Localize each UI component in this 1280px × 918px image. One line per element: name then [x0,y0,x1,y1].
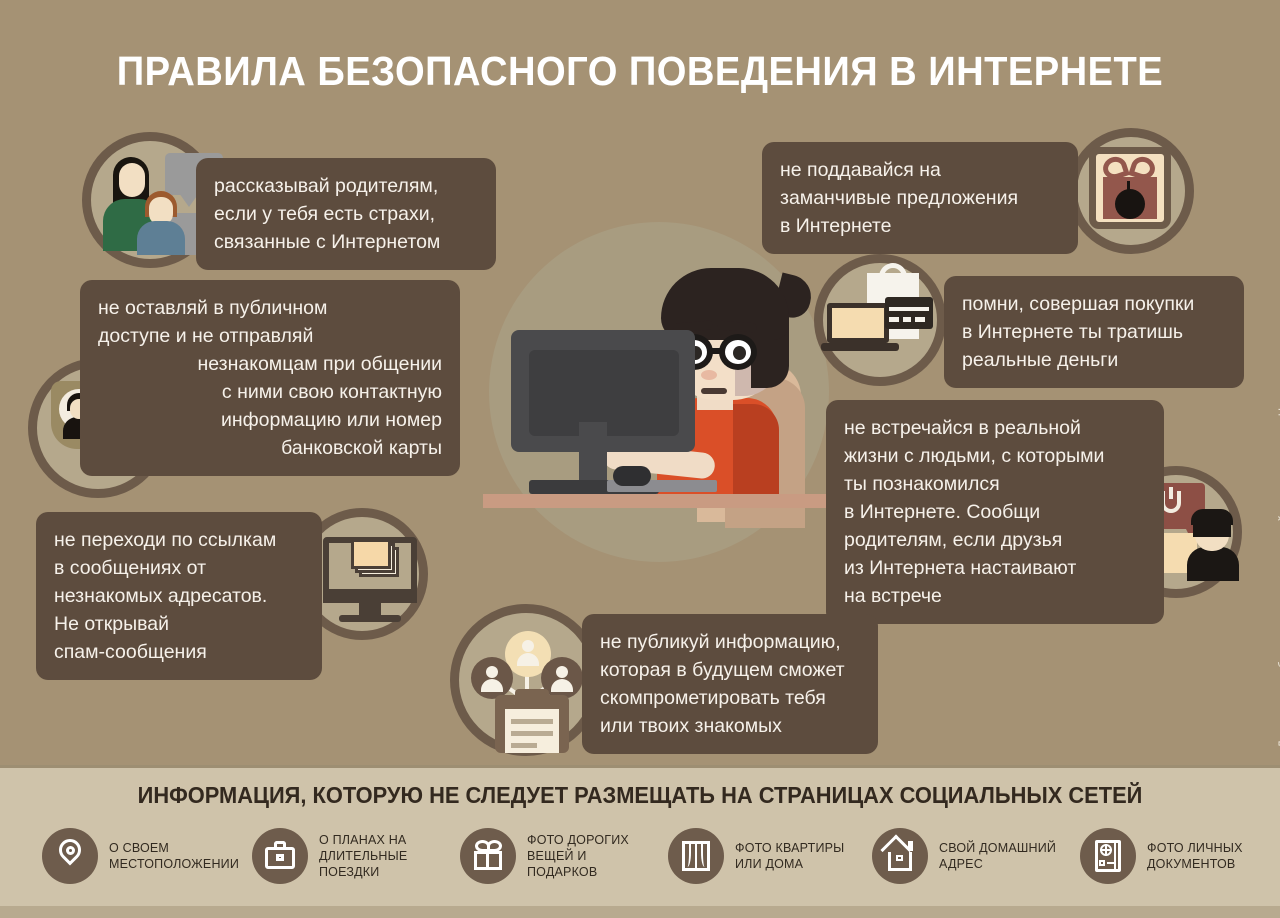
curtain-right-shape [701,843,707,867]
credit-card-icon [885,297,933,329]
person-head-shape [486,666,498,678]
monitor-base-bar [323,589,417,603]
desk-shape [483,494,843,508]
pin-dot-shape [66,846,75,855]
house-window-shape [896,855,903,861]
mouth-shape [701,388,727,394]
laptop-screen-shape [827,303,889,343]
tip-line: ты познакомился [844,470,1146,498]
globe-line-vertical [1105,844,1107,856]
tip-card-dont-fall-for-offers: не поддавайся на заманчивые предложения … [762,142,1078,254]
banner-item-label: ФОТО КВАРТИРЫ ИЛИ ДОМА [735,840,844,872]
house-icon [872,828,928,884]
person-body-shape [551,679,573,692]
banner-item-label: ФОТО ДОРОГИХ ВЕЩЕЙ И ПОДАРКОВ [527,832,629,880]
message-window-front [351,539,391,569]
tip-line: помни, совершая покупки [962,290,1226,318]
tip-line: если у тебя есть страхи, [214,200,478,228]
person-head-shape [522,640,534,652]
banner-item-label: СВОЙ ДОМАШНИЙ АДРЕС [939,840,1056,872]
tip-line: не переходи по ссылкам [54,526,304,554]
tip-line: в Интернете [780,212,1060,240]
window-mullion-shape [695,841,697,871]
tip-line: в сообщениях от [54,554,304,582]
tip-line: Не открывай [54,610,304,638]
tip-line: родителям, если друзья [844,526,1146,554]
tip-card-tell-parents: рассказывай родителям, если у тебя есть … [196,158,496,270]
monitor-foot [339,615,401,622]
banner-title: ИНФОРМАЦИЯ, КОТОРУЮ НЕ СЛЕДУЕТ РАЗМЕЩАТЬ… [32,782,1248,809]
laptop-base-shape [821,343,899,351]
thief-mask-shape [1193,525,1231,537]
nose-shape [701,370,717,380]
banner-bottom-strip [0,906,1280,918]
teen-at-computer-illustration [489,222,829,562]
tip-line: с ними свою контактную [98,378,442,406]
passport-icon [1080,828,1136,884]
tip-line: рассказывай родителям, [214,172,478,200]
tip-line: не оставляй в публичном [98,294,442,322]
window-icon [668,828,724,884]
tip-line: на встрече [844,582,1146,610]
tip-line: не поддавайся на [780,156,1060,184]
document-line [511,719,553,724]
tip-line: спам-сообщения [54,638,304,666]
tip-line: банковской карты [98,434,442,462]
tip-line: заманчивые предложения [780,184,1060,212]
banner-item-label: О ПЛАНАХ НА ДЛИТЕЛЬНЫЕ ПОЕЗДКИ [319,832,407,880]
banner-item-address: СВОЙ ДОМАШНИЙ АДРЕС [872,828,1056,884]
credit-card-dot [889,317,899,322]
hand-shape [613,466,651,486]
tip-line: из Интернета настаивают [844,554,1146,582]
tip-line: реальные деньги [962,346,1226,374]
tip-card-dont-share-contacts: не оставляй в публичном доступе и не отп… [80,280,460,476]
banner-item-trips: О ПЛАНАХ НА ДЛИТЕЛЬНЫЕ ПОЕЗДКИ [252,828,407,884]
banner-item-home-photo: ФОТО КВАРТИРЫ ИЛИ ДОМА [668,828,844,884]
gift-ribbon-shape [486,851,489,870]
infographic-poster: ПРАВИЛА БЕЗОПАСНОГО ПОВЕДЕНИЯ В ИНТЕРНЕТ… [0,0,1280,918]
briefcase-clasp-shape [276,854,284,861]
credit-card-stripe [889,307,929,311]
gift-bomb-icon [1068,128,1194,254]
banner-item-label: ФОТО ЛИЧНЫХ ДОКУМЕНТОВ [1147,840,1243,872]
gift-icon [460,828,516,884]
location-pin-icon [42,828,98,884]
glasses-bridge [711,348,723,354]
pupil-right [733,346,746,360]
banner-item-label: О СВОЕМ МЕСТОПОЛОЖЕНИИ [109,840,239,872]
thief-body-shape [1187,547,1239,581]
torso-shade-shape [733,404,779,498]
tip-line: информацию или номер [98,406,442,434]
child-body-shape [137,221,185,255]
tip-line: незнакомых адресатов. [54,582,304,610]
banner-item-valuables: ФОТО ДОРОГИХ ВЕЩЕЙ И ПОДАРКОВ [460,828,629,884]
tip-line: жизни с людьми, с которыми [844,442,1146,470]
credit-card-dot [915,317,925,322]
briefcase-icon [252,828,308,884]
tip-line: связанные с Интернетом [214,228,478,256]
person-head-shape [556,666,568,678]
tip-line: в Интернете. Сообщи [844,498,1146,526]
bomb-icon [1115,189,1145,219]
document-line [511,743,537,748]
person-body-shape [481,679,503,692]
tip-line: или твоих знакомых [600,712,860,740]
tip-card-shopping-real-money: помни, совершая покупки в Интернете ты т… [944,276,1244,388]
credit-card-dot [903,317,911,322]
tip-card-dont-meet-strangers: не встречайся в реальной жизни с людьми,… [826,400,1164,624]
fishing-hook-stem [1169,487,1173,499]
tip-card-dont-publish-info: не публикуй информацию, которая в будуще… [582,614,878,754]
share-folder-icon [450,604,602,756]
tip-line: доступе и не отправляй [98,322,442,350]
shopping-card-icon [814,254,946,386]
passport-photo-shape [1099,860,1105,866]
tip-card-dont-click-links: не переходи по ссылкам в сообщениях от н… [36,512,322,680]
tip-line: которая в будущем сможет [600,656,860,684]
tip-line: не публикуй информацию, [600,628,860,656]
person-body-shape [517,653,539,666]
person-node-left [471,657,513,699]
passport-text-line [1107,862,1114,864]
banner-item-documents: ФОТО ЛИЧНЫХ ДОКУМЕНТОВ [1080,828,1243,884]
document-line [511,731,553,736]
passport-spine-shape [1114,840,1116,872]
banner-item-location: О СВОЕМ МЕСТОПОЛОЖЕНИИ [42,828,239,884]
parent-face-shape [119,163,145,197]
thief-hat-shape [1191,509,1233,525]
tip-line: в Интернете ты тратишь [962,318,1226,346]
tip-line: скомпрометировать тебя [600,684,860,712]
monitor-stand [579,422,607,484]
tip-line: не встречайся в реальной [844,414,1146,442]
tip-line: незнакомцам при общении [98,350,442,378]
page-title: ПРАВИЛА БЕЗОПАСНОГО ПОВЕДЕНИЯ В ИНТЕРНЕТ… [45,48,1235,95]
